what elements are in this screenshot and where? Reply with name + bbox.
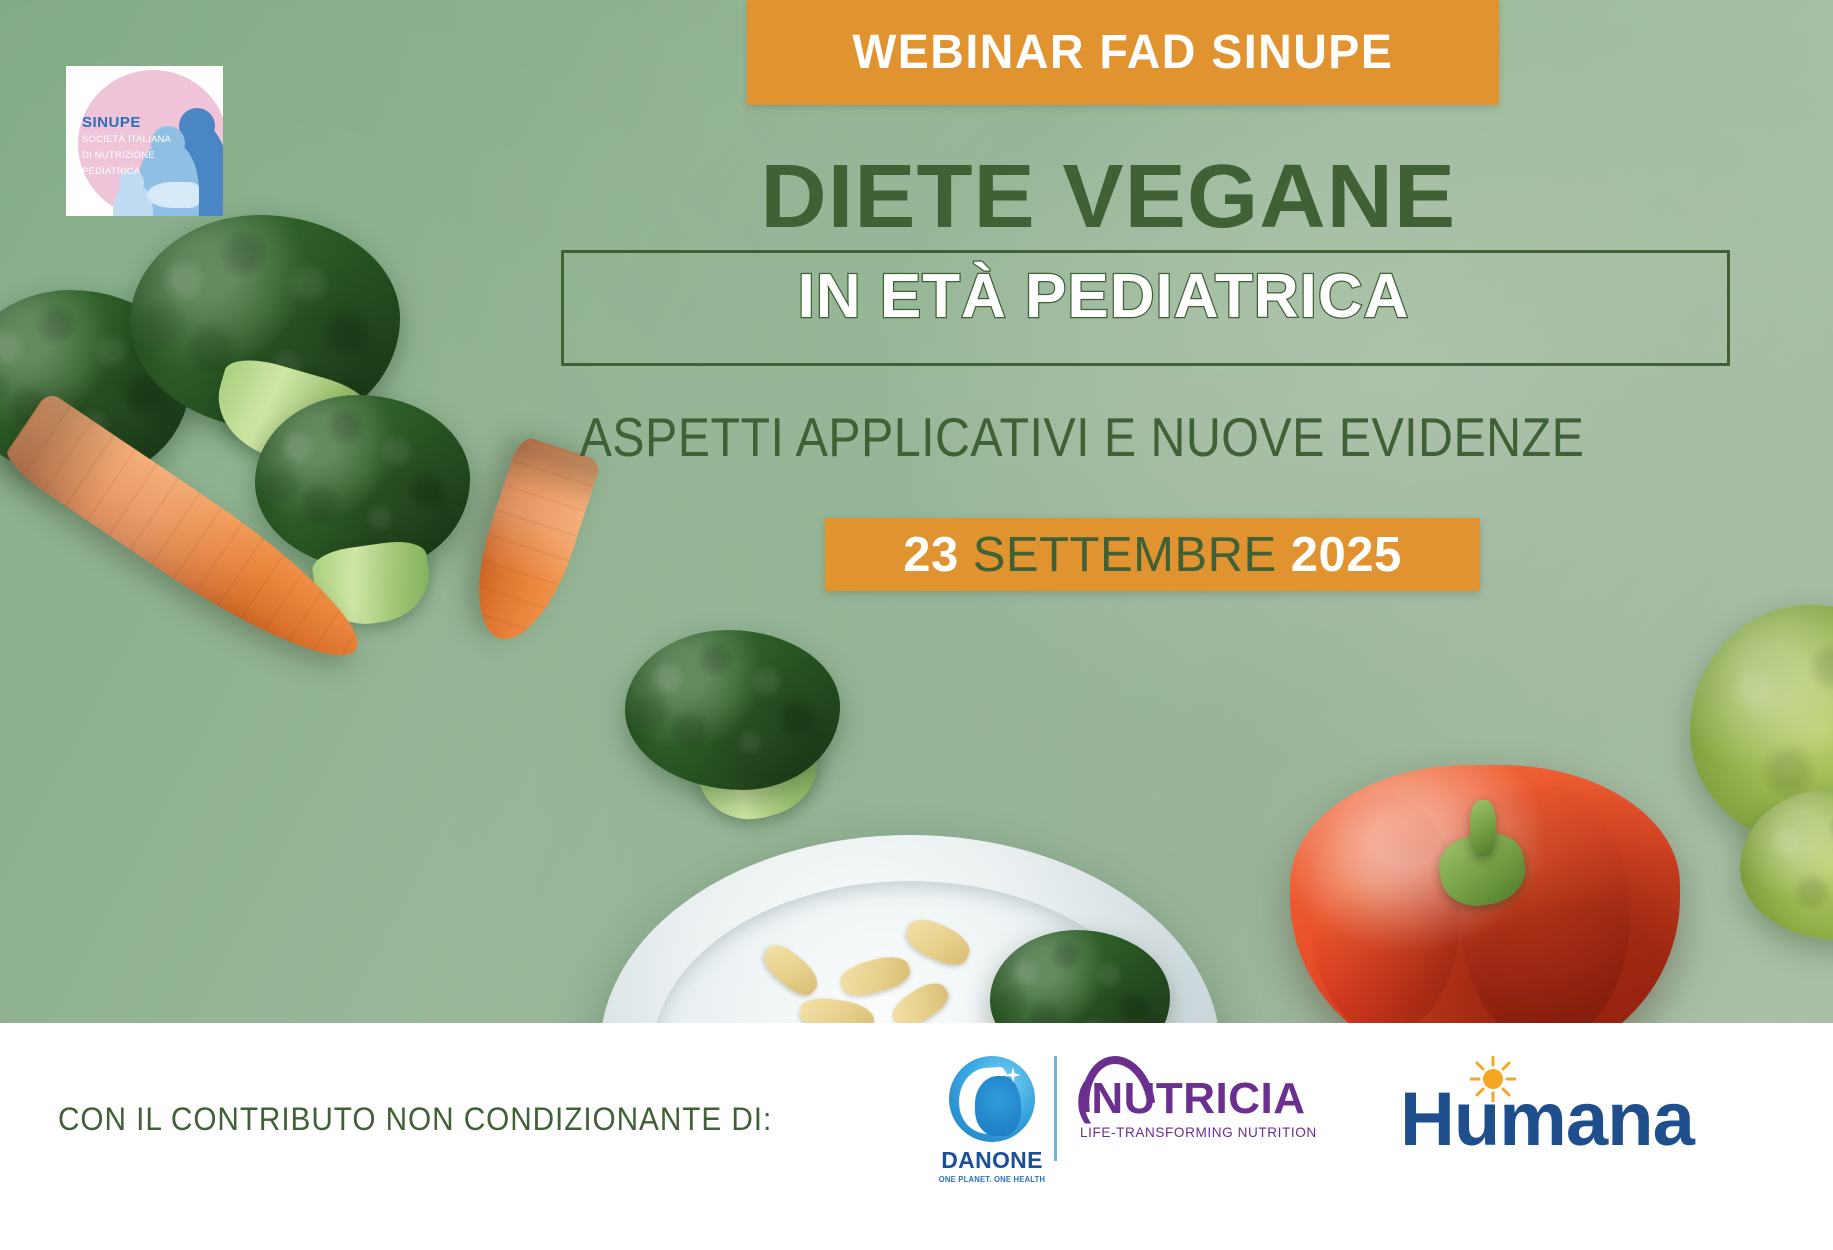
sponsor-divider <box>1054 1056 1057 1161</box>
nutricia-tagline: LIFE-TRANSFORMING NUTRITION <box>1080 1124 1317 1140</box>
webinar-banner: WEBINAR FAD SINUPE <box>747 0 1499 105</box>
event-date-badge: 23 SETTEMBRE 2025 <box>825 518 1480 591</box>
date-month: SETTEMBRE <box>973 527 1277 583</box>
logo-subtitle-line-1: SOCIETÀ ITALIANA <box>82 133 192 147</box>
webinar-poster: SINUPE SOCIETÀ ITALIANA DI NUTRIZIONE PE… <box>0 0 1833 1250</box>
date-year: 2025 <box>1291 527 1402 583</box>
footer-contribution-label: CON IL CONTRIBUTO NON CONDIZIONANTE DI: <box>58 1101 772 1138</box>
date-day: 23 <box>903 527 959 583</box>
humana-name: Humana <box>1400 1082 1694 1158</box>
pepper-stem-icon <box>1470 800 1496 856</box>
page-tagline: ASPETTI APPLICATIVI E NUOVE EVIDENZE <box>110 410 1723 465</box>
danone-tagline: ONE PLANET. ONE HEALTH <box>938 1175 1046 1184</box>
logo-name: SINUPE <box>82 114 192 131</box>
page-title: DIETE VEGANE <box>0 152 1833 242</box>
webinar-banner-text: WEBINAR FAD SINUPE <box>853 25 1394 80</box>
sun-icon <box>1470 1056 1516 1102</box>
danone-logo: DANONE ONE PLANET. ONE HEALTH <box>936 1056 1048 1184</box>
page-subtitle: IN ETÀ PEDIATRICA <box>0 266 1833 328</box>
humana-logo: Humana <box>1400 1058 1694 1158</box>
danone-globe-icon <box>949 1056 1035 1142</box>
danone-face-inner-icon <box>975 1076 1021 1136</box>
nutricia-logo: ( NUTRICIA LIFE-TRANSFORMING NUTRITION <box>1076 1078 1324 1140</box>
danone-name: DANONE <box>936 1147 1048 1174</box>
